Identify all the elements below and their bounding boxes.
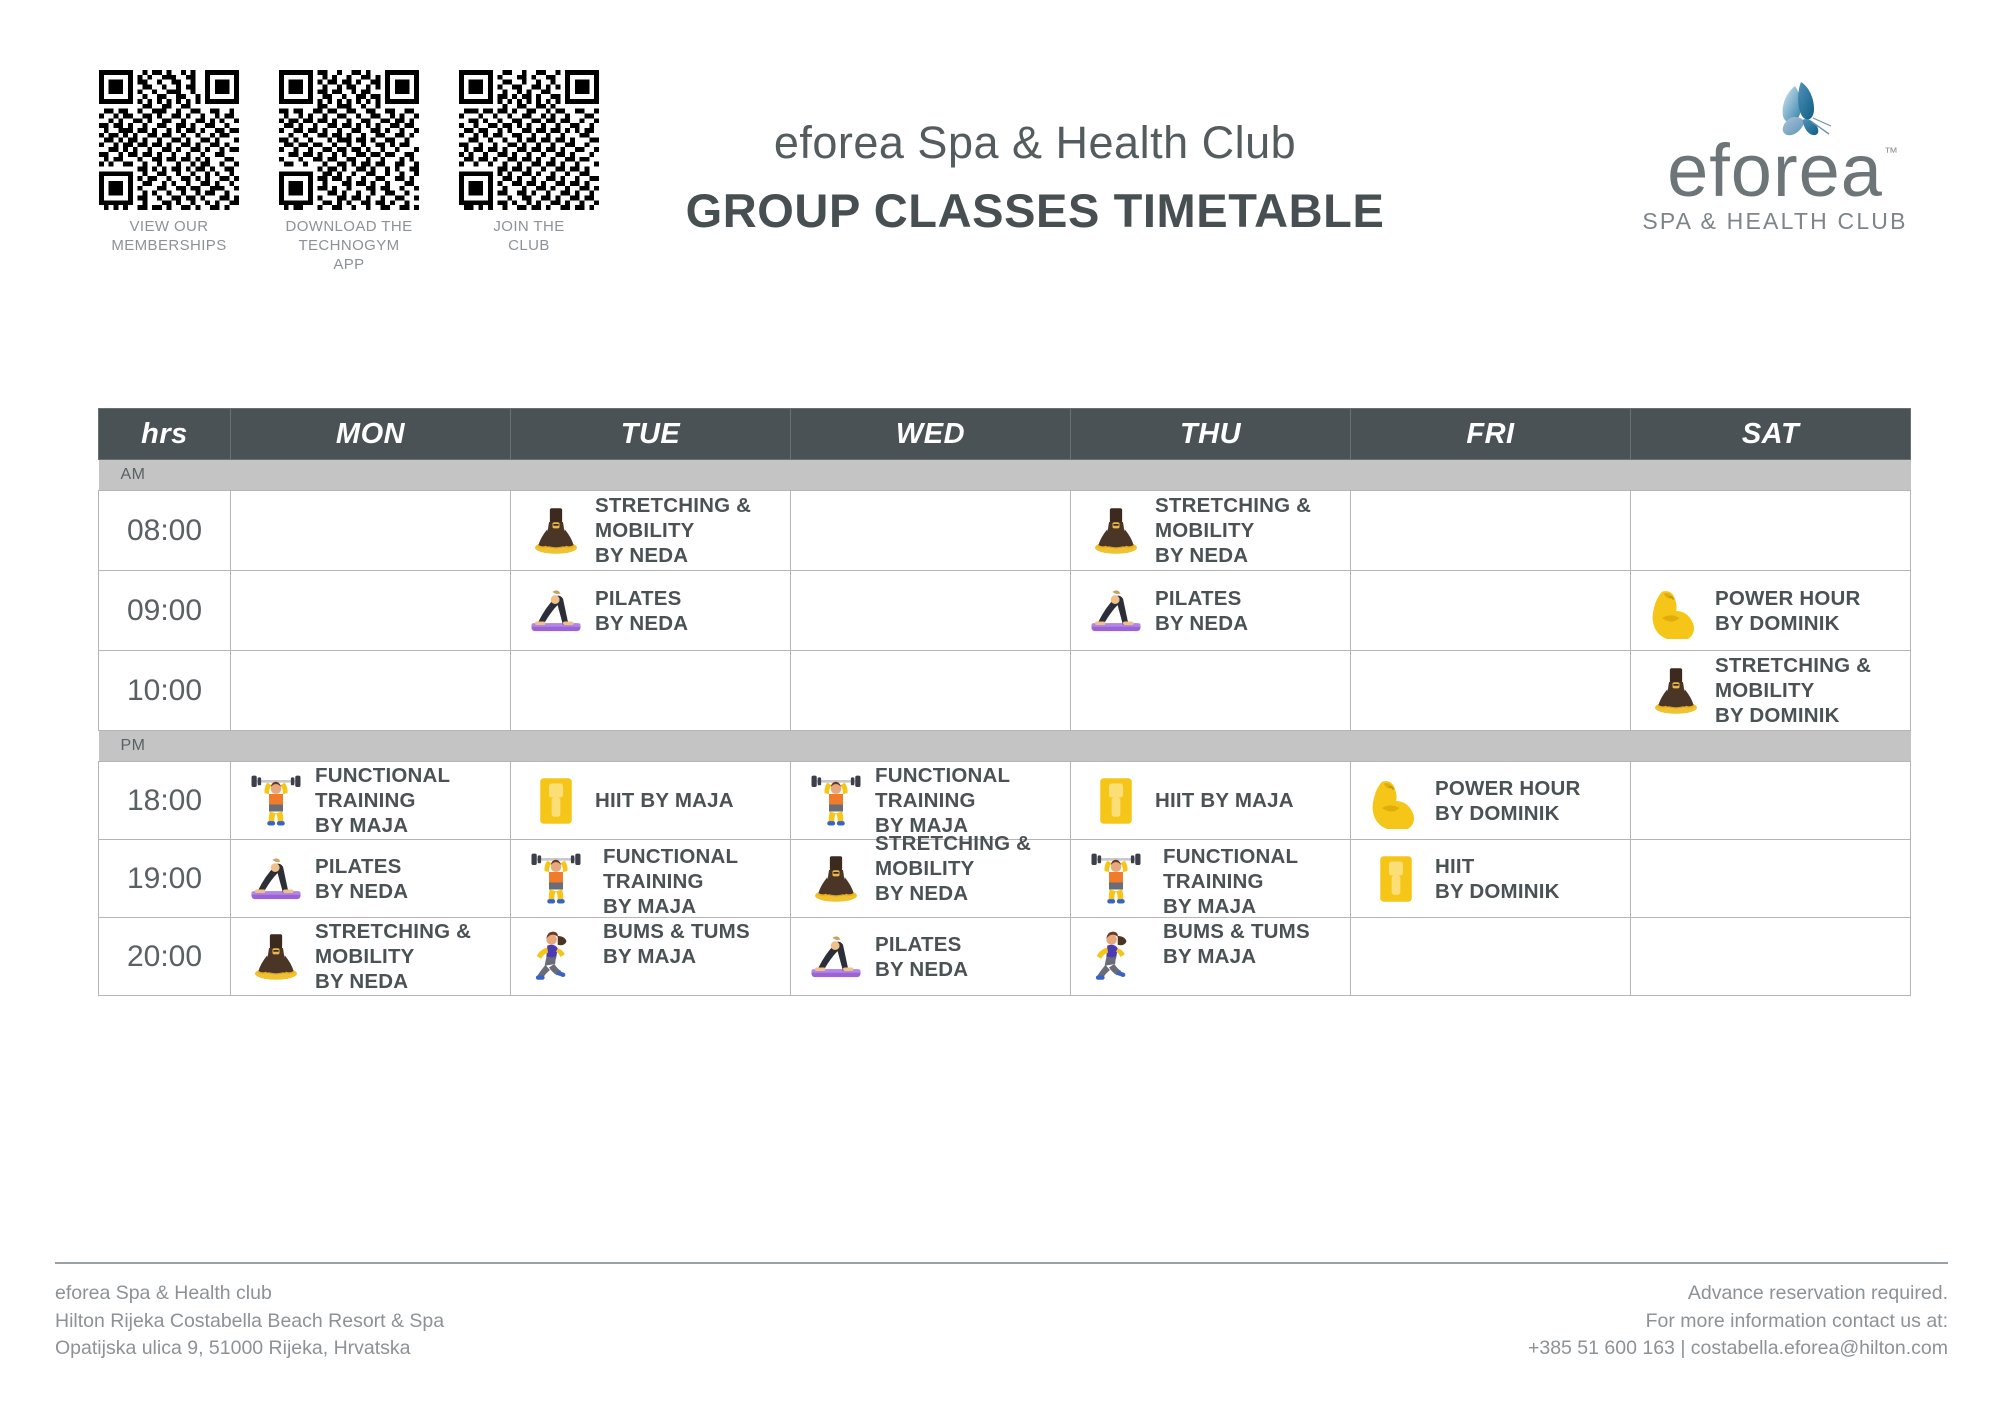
class-label: STRETCHING & MOBILITY BY NEDA	[1147, 493, 1311, 568]
yoga-mat-icon	[805, 926, 867, 988]
class-label: HIIT BY MAJA	[1147, 788, 1294, 813]
timetable-row: 19:00PILATES BY NEDAFUNCTIONAL TRAINING …	[99, 840, 1911, 918]
class-cell[interactable]: STRETCHING & MOBILITY BY DOMINIK	[1631, 651, 1911, 731]
qr-caption: JOIN THE CLUB	[493, 218, 564, 256]
logo-word-text: eforea	[1667, 129, 1883, 212]
logo-tagline: SPA & HEALTH CLUB	[1630, 208, 1920, 235]
row-time-label: 19:00	[99, 840, 231, 918]
qr-item-technogym[interactable]: DOWNLOAD THE TECHNOGYM APP	[275, 70, 423, 274]
class-cell[interactable]: PILATES BY NEDA	[1071, 571, 1351, 651]
empty-cell	[791, 651, 1071, 731]
am-band-row: AM	[99, 460, 1911, 491]
page-subtitle: eforea Spa & Health Club	[620, 120, 1450, 165]
column-header-mon: MON	[231, 409, 511, 460]
class-cell[interactable]: STRETCHING & MOBILITY BY NEDA	[511, 491, 791, 571]
row-time-label: 09:00	[99, 571, 231, 651]
class-cell[interactable]	[1071, 918, 1351, 996]
class-label: POWER HOUR BY DOMINIK	[1707, 586, 1861, 636]
qr-caption: VIEW OUR MEMBERSHIPS	[111, 218, 226, 256]
class-cell[interactable]: HIIT BY DOMINIK	[1351, 840, 1631, 918]
footer-divider	[55, 1262, 1948, 1264]
column-header-wed: WED	[791, 409, 1071, 460]
empty-cell	[231, 651, 511, 731]
class-cell[interactable]: STRETCHING & MOBILITY BY NEDA	[1071, 491, 1351, 571]
class-cell[interactable]: POWER HOUR BY DOMINIK	[1351, 762, 1631, 840]
column-header-fri: FRI	[1351, 409, 1631, 460]
class-cell[interactable]: STRETCHING & MOBILITY BY NEDA	[791, 840, 1071, 918]
band-spacer	[791, 731, 1071, 762]
timetable-row: 20:00STRETCHING & MOBILITY BY NEDAPILATE…	[99, 918, 1911, 996]
band-spacer	[231, 731, 511, 762]
empty-cell	[1351, 491, 1631, 571]
class-label: FUNCTIONAL TRAINING BY MAJA	[307, 763, 450, 838]
band-spacer	[1071, 731, 1351, 762]
join-the-club-qr-icon[interactable]	[459, 70, 599, 210]
class-label: HIIT BY DOMINIK	[1427, 854, 1560, 904]
eforea-logo: eforea™ SPA & HEALTH CLUB	[1630, 78, 1920, 235]
group-classes-timetable: hrs MON TUE WED THU FRI SAT AM08:00STRET…	[98, 408, 1911, 996]
empty-cell	[1351, 918, 1631, 996]
footer-line: +385 51 600 163 | costabella.eforea@hilt…	[1528, 1335, 1948, 1363]
row-time-label: 18:00	[99, 762, 231, 840]
yoga-mat-icon	[245, 848, 307, 910]
qr-code-group: VIEW OUR MEMBERSHIPS	[95, 70, 603, 274]
hiit-block-icon	[525, 770, 587, 832]
footer-line: Opatijska ulica 9, 51000 Rijeka, Hrvatsk…	[55, 1335, 444, 1363]
class-label: POWER HOUR BY DOMINIK	[1427, 776, 1581, 826]
column-header-hrs: hrs	[99, 409, 231, 460]
class-label: PILATES BY NEDA	[307, 854, 408, 904]
page-title: GROUP CLASSES TIMETABLE	[620, 187, 1450, 234]
runner-icon	[1085, 926, 1147, 988]
empty-cell	[1631, 918, 1911, 996]
class-label: FUNCTIONAL TRAINING BY MAJA	[867, 763, 1010, 838]
row-time-label: 10:00	[99, 651, 231, 731]
empty-cell	[1071, 651, 1351, 731]
class-cell[interactable]: HIIT BY MAJA	[1071, 762, 1351, 840]
weight-lifter-icon	[245, 770, 307, 832]
table-header-row: hrs MON TUE WED THU FRI SAT	[99, 409, 1911, 460]
pm-band-row-label: PM	[99, 731, 231, 762]
band-spacer	[1631, 731, 1911, 762]
class-cell[interactable]: FUNCTIONAL TRAINING BY MAJA	[791, 762, 1071, 840]
band-spacer	[511, 460, 791, 491]
yoga-mat-icon	[525, 580, 587, 642]
empty-cell	[511, 651, 791, 731]
timetable-row: 08:00STRETCHING & MOBILITY BY NEDASTRETC…	[99, 491, 1911, 571]
empty-cell	[1631, 491, 1911, 571]
timetable-row: 09:00PILATES BY NEDAPILATES BY NEDAPOWER…	[99, 571, 1911, 651]
row-time-label: 08:00	[99, 491, 231, 571]
flexed-biceps-icon	[1365, 770, 1427, 832]
hiit-block-icon	[1085, 770, 1147, 832]
class-label: PILATES BY NEDA	[587, 586, 688, 636]
footer-line: Advance reservation required.	[1528, 1280, 1948, 1308]
column-header-sat: SAT	[1631, 409, 1911, 460]
row-time-label: 20:00	[99, 918, 231, 996]
column-header-tue: TUE	[511, 409, 791, 460]
empty-cell	[791, 571, 1071, 651]
class-cell[interactable]: PILATES BY NEDA	[231, 840, 511, 918]
yoga-mat-icon	[1085, 580, 1147, 642]
title-block: eforea Spa & Health Club GROUP CLASSES T…	[620, 120, 1450, 234]
class-label: STRETCHING & MOBILITY BY NEDA	[307, 919, 471, 994]
empty-cell	[1631, 840, 1911, 918]
band-spacer	[1351, 731, 1631, 762]
band-spacer	[791, 460, 1071, 491]
class-cell[interactable]: FUNCTIONAL TRAINING BY MAJA BUMS & TUMS …	[511, 840, 791, 918]
footer-contact: Advance reservation required. For more i…	[1528, 1280, 1948, 1363]
footer-line: For more information contact us at:	[1528, 1308, 1948, 1336]
timetable-row: 18:00FUNCTIONAL TRAINING BY MAJAHIIT BY …	[99, 762, 1911, 840]
class-label: HIIT BY MAJA	[587, 788, 734, 813]
class-cell[interactable]: FUNCTIONAL TRAINING BY MAJA	[231, 762, 511, 840]
pm-band-row: PM	[99, 731, 1911, 762]
qr-item-join-club[interactable]: JOIN THE CLUB	[455, 70, 603, 274]
footer-line: eforea Spa & Health club	[55, 1280, 444, 1308]
weight-lifter-icon	[805, 770, 867, 832]
footer-line: Hilton Rijeka Costabella Beach Resort & …	[55, 1308, 444, 1336]
class-label: PILATES BY NEDA	[1147, 586, 1248, 636]
class-label: STRETCHING & MOBILITY BY DOMINIK	[1707, 653, 1871, 728]
lotus-position-icon	[1085, 500, 1147, 562]
weight-lifter-icon	[1085, 848, 1147, 910]
download-the-technogym-app-qr-icon[interactable]	[279, 70, 419, 210]
lotus-position-icon	[245, 926, 307, 988]
lotus-position-icon	[525, 500, 587, 562]
class-label: STRETCHING & MOBILITY BY NEDA	[867, 831, 1031, 906]
class-cell[interactable]: STRETCHING & MOBILITY BY NEDA	[231, 918, 511, 996]
flexed-biceps-icon	[1645, 580, 1707, 642]
empty-cell	[231, 491, 511, 571]
class-label: PILATES BY NEDA	[867, 932, 968, 982]
lotus-position-icon	[805, 848, 867, 910]
class-label: STRETCHING & MOBILITY BY NEDA	[587, 493, 751, 568]
class-cell[interactable]: HIIT BY MAJA	[511, 762, 791, 840]
band-spacer	[231, 460, 511, 491]
trademark-icon: ™	[1884, 146, 1899, 159]
band-spacer	[1071, 460, 1351, 491]
empty-cell	[1351, 571, 1631, 651]
class-cell[interactable]	[511, 918, 791, 996]
empty-cell	[1631, 762, 1911, 840]
timetable-row: 10:00STRETCHING & MOBILITY BY DOMINIK	[99, 651, 1911, 731]
class-cell[interactable]: POWER HOUR BY DOMINIK	[1631, 571, 1911, 651]
band-spacer	[1631, 460, 1911, 491]
class-cell[interactable]: PILATES BY NEDA	[791, 918, 1071, 996]
class-cell[interactable]: PILATES BY NEDA	[511, 571, 791, 651]
am-band-row-label: AM	[99, 460, 231, 491]
column-header-thu: THU	[1071, 409, 1351, 460]
table-body: AM08:00STRETCHING & MOBILITY BY NEDASTRE…	[99, 460, 1911, 996]
runner-icon	[525, 926, 587, 988]
footer-address: eforea Spa & Health club Hilton Rijeka C…	[55, 1280, 444, 1363]
qr-item-memberships[interactable]: VIEW OUR MEMBERSHIPS	[95, 70, 243, 274]
class-cell[interactable]: FUNCTIONAL TRAINING BY MAJA BUMS & TUMS …	[1071, 840, 1351, 918]
band-spacer	[1351, 460, 1631, 491]
qr-caption: DOWNLOAD THE TECHNOGYM APP	[285, 218, 412, 274]
empty-cell	[791, 491, 1071, 571]
view-our-memberships-qr-icon[interactable]	[99, 70, 239, 210]
page-header: VIEW OUR MEMBERSHIPS	[0, 0, 2000, 300]
empty-cell	[231, 571, 511, 651]
lotus-position-icon	[1645, 660, 1707, 722]
logo-wordmark: eforea™	[1667, 136, 1883, 206]
hiit-block-icon	[1365, 848, 1427, 910]
empty-cell	[1351, 651, 1631, 731]
band-spacer	[511, 731, 791, 762]
weight-lifter-icon	[525, 848, 587, 910]
